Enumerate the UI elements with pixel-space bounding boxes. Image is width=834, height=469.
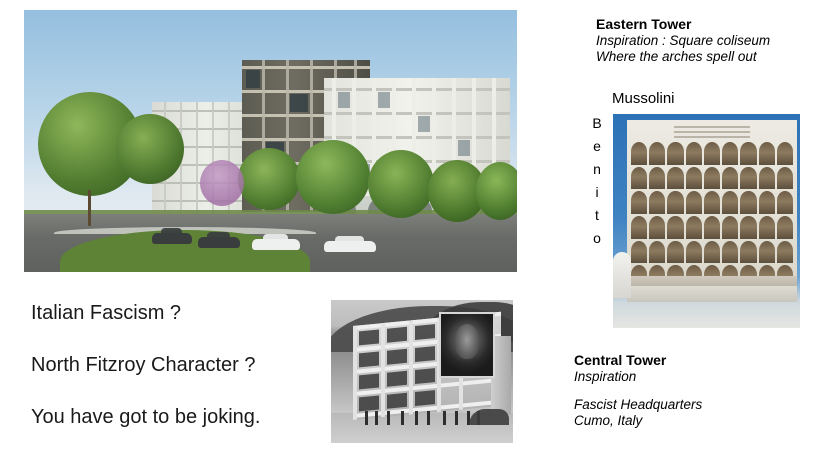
central-tower-subline-3: Cumo, Italy <box>574 413 824 429</box>
coliseum-arch <box>722 191 738 214</box>
coliseum-arch <box>759 191 775 214</box>
coliseum-arch <box>704 216 720 239</box>
coliseum-facade <box>627 120 797 302</box>
benito-letter-i: i <box>595 181 598 204</box>
coliseum-arch <box>686 142 702 165</box>
benito-letter-b: B <box>592 112 601 135</box>
coliseum-arch <box>740 241 756 264</box>
coliseum-ground <box>627 286 797 302</box>
tree-blossom <box>200 160 244 206</box>
coliseum-arch <box>740 216 756 239</box>
coliseum-arch <box>777 241 793 264</box>
render-skyline <box>24 10 517 272</box>
coliseum-arch <box>631 167 647 190</box>
central-tower-subline-2: Fascist Headquarters <box>574 397 824 413</box>
tree-mid-2 <box>296 140 370 214</box>
eastern-tower-heading: Eastern Tower <box>596 16 834 33</box>
main-render-image <box>24 10 517 272</box>
coliseum-arch <box>649 142 665 165</box>
commentary-line-3: You have got to be joking. <box>31 407 321 427</box>
coliseum-arch-grid <box>631 142 793 288</box>
coliseum-inscription <box>674 126 750 138</box>
car-dark-1 <box>152 233 192 244</box>
coliseum-arch <box>649 191 665 214</box>
coliseum-arch <box>631 142 647 165</box>
coliseum-arch <box>704 167 720 190</box>
casa-del-fascio-image <box>331 300 513 443</box>
coliseum-arch <box>759 216 775 239</box>
coliseum-arch <box>740 191 756 214</box>
coliseum-arch <box>759 142 775 165</box>
coliseum-arch <box>722 241 738 264</box>
coliseum-arch <box>740 142 756 165</box>
coliseum-arch <box>667 142 683 165</box>
coliseum-arch <box>777 216 793 239</box>
square-colosseum-image <box>613 114 800 328</box>
slide-canvas: Italian Fascism ? North Fitzroy Characte… <box>0 0 834 469</box>
coliseum-arch <box>777 191 793 214</box>
eastern-tower-subline-2: Where the arches spell out <box>596 49 834 65</box>
commentary-text-block: Italian Fascism ? North Fitzroy Characte… <box>31 303 321 427</box>
central-tower-subline-1: Inspiration <box>574 369 824 385</box>
tree-mid-1 <box>238 148 300 210</box>
tree-trunk-left <box>88 190 91 226</box>
coliseum-arch <box>686 191 702 214</box>
tree-mid-3 <box>368 150 434 218</box>
coliseum-arch <box>631 191 647 214</box>
coliseum-arch <box>740 167 756 190</box>
coliseum-arch <box>759 241 775 264</box>
benito-vertical-label: B e n i t o <box>589 112 605 250</box>
car-dark-2 <box>198 237 240 248</box>
coliseum-arch <box>722 142 738 165</box>
coliseum-arch <box>631 241 647 264</box>
commentary-line-1: Italian Fascism ? <box>31 303 321 323</box>
commentary-line-2: North Fitzroy Character ? <box>31 355 321 375</box>
mussolini-surname-label: Mussolini <box>612 90 675 107</box>
car-white-1 <box>252 239 300 250</box>
coliseum-arch <box>686 216 702 239</box>
coliseum-foreground-statue <box>613 252 631 298</box>
coliseum-arch <box>649 216 665 239</box>
tree-left-2 <box>116 114 184 184</box>
coliseum-arch <box>686 241 702 264</box>
tree-right-2 <box>476 162 517 220</box>
eastern-tower-text-block: Eastern Tower Inspiration : Square colis… <box>596 16 834 65</box>
coliseum-arch <box>667 191 683 214</box>
coliseum-arch <box>777 142 793 165</box>
coliseum-arch <box>667 167 683 190</box>
central-tower-heading: Central Tower <box>574 352 824 369</box>
central-tower-text-block: Central Tower Inspiration Fascist Headqu… <box>574 352 824 429</box>
coliseum-arch <box>649 241 665 264</box>
bw-awning <box>469 409 509 425</box>
coliseum-arch <box>704 191 720 214</box>
coliseum-arch <box>759 167 775 190</box>
coliseum-arch <box>667 241 683 264</box>
benito-letter-n: n <box>593 158 601 181</box>
coliseum-arch <box>631 216 647 239</box>
coliseum-arch <box>649 167 665 190</box>
mussolini-face <box>455 324 480 359</box>
coliseum-arch <box>686 167 702 190</box>
coliseum-arch <box>777 167 793 190</box>
benito-letter-e: e <box>593 135 601 158</box>
coliseum-arch <box>704 241 720 264</box>
benito-letter-o: o <box>593 227 601 250</box>
car-white-2 <box>324 241 376 252</box>
benito-letter-t: t <box>595 204 599 227</box>
coliseum-arch <box>722 167 738 190</box>
coliseum-arch <box>722 216 738 239</box>
eastern-tower-subline-1: Inspiration : Square coliseum <box>596 33 834 49</box>
coliseum-arch <box>667 216 683 239</box>
mussolini-portrait-banner <box>439 312 495 378</box>
coliseum-arch <box>704 142 720 165</box>
